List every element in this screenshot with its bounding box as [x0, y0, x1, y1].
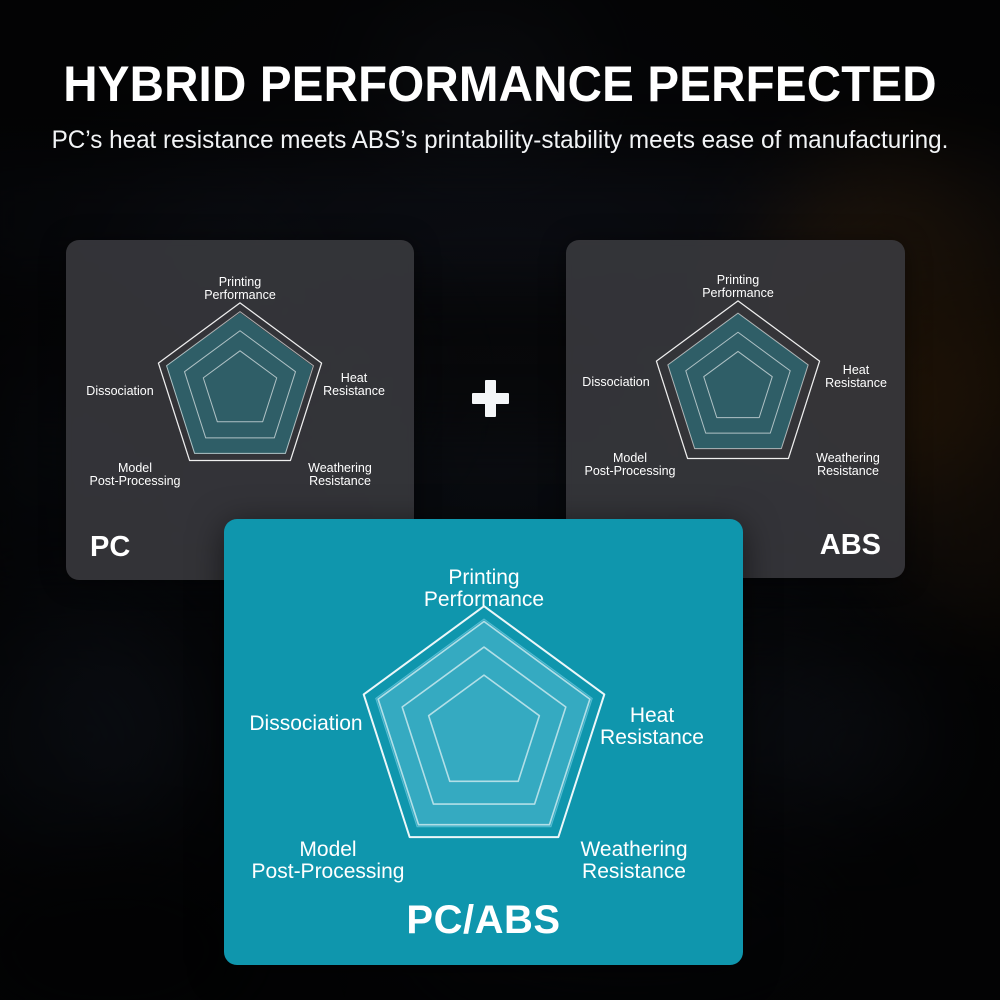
- radar-axis-label: ModelPost-Processing: [89, 461, 180, 488]
- radar-axis-label: Dissociation: [86, 384, 153, 398]
- plus-icon: [472, 380, 509, 417]
- card-label-pc: PC: [90, 531, 130, 564]
- radar-data-polygon: [376, 619, 593, 827]
- radar-chart-pc: PrintingPerformanceHeatResistanceWeather…: [84, 260, 396, 520]
- radar-axis-label: HeatResistance: [600, 704, 704, 749]
- radar-axis-label: PrintingPerformance: [702, 273, 774, 300]
- radar-axis-label: ModelPost-Processing: [584, 451, 675, 478]
- radar-axis-label: Dissociation: [582, 375, 649, 389]
- page-subtitle: PC’s heat resistance meets ABS’s printab…: [15, 113, 985, 155]
- material-card-pcabs[interactable]: PrintingPerformanceHeatResistanceWeather…: [224, 519, 743, 965]
- card-label-abs: ABS: [820, 529, 881, 562]
- radar-chart-pcabs: PrintingPerformanceHeatResistanceWeather…: [254, 547, 714, 917]
- radar-axis-label: WeatheringResistance: [816, 451, 880, 478]
- radar-axis-label: PrintingPerformance: [204, 275, 276, 302]
- header: HYBRID PERFORMANCE PERFECTED PC’s heat r…: [0, 0, 1000, 155]
- radar-axis-label: HeatResistance: [323, 371, 385, 398]
- card-label-pcabs: PC/ABS: [224, 898, 743, 943]
- radar-axis-label: ModelPost-Processing: [252, 838, 405, 883]
- radar-axis-label: Dissociation: [249, 712, 362, 735]
- radar-axis-label: WeatheringResistance: [580, 838, 687, 883]
- radar-axis-label: PrintingPerformance: [424, 566, 544, 611]
- radar-axis-label: HeatResistance: [825, 363, 887, 390]
- radar-chart-abs: PrintingPerformanceHeatResistanceWeather…: [582, 258, 894, 518]
- page-title: HYBRID PERFORMANCE PERFECTED: [25, 0, 975, 113]
- radar-axis-label: WeatheringResistance: [308, 461, 372, 488]
